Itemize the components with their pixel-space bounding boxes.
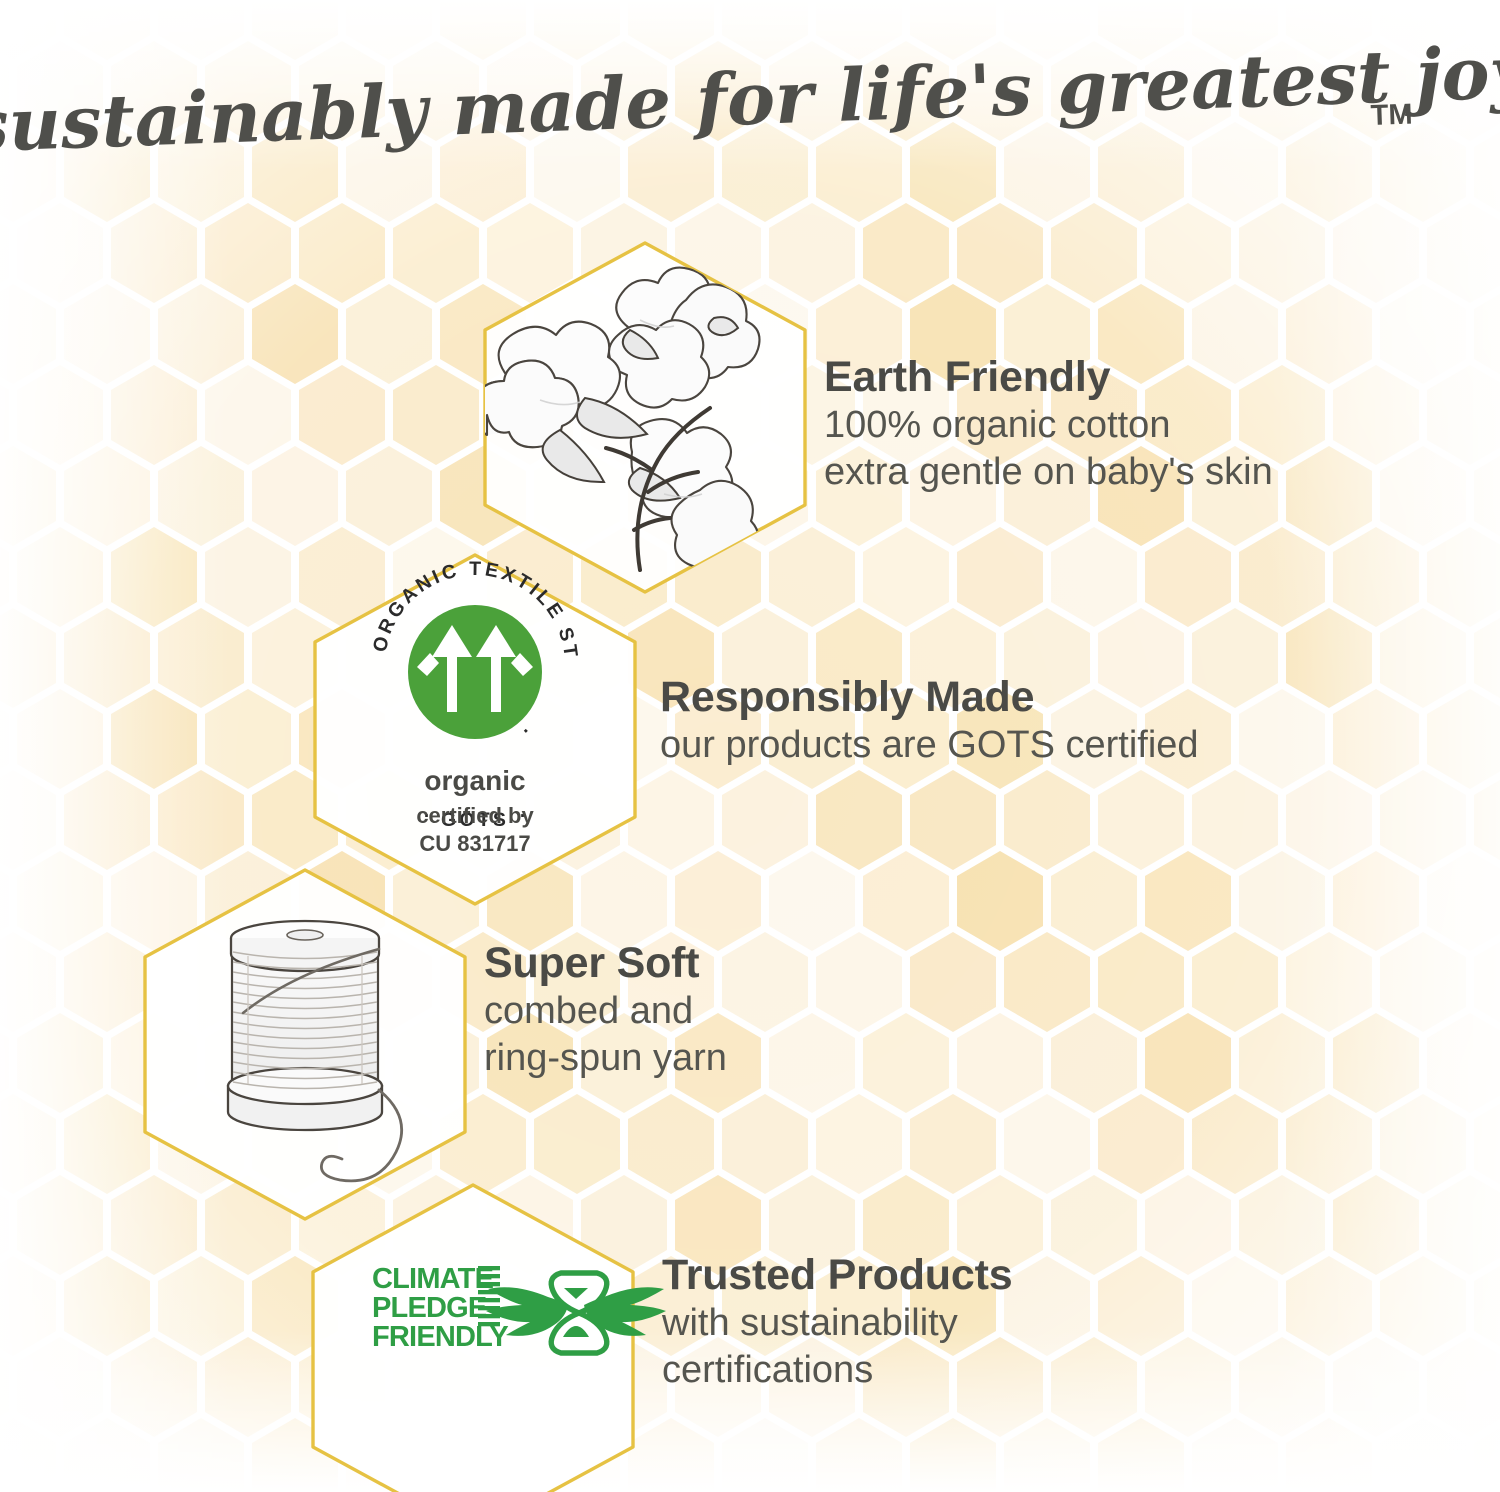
gots-label-certified-by: certified by	[416, 803, 534, 828]
promo-banner: sustainably made for life's greatest joy…	[0, 0, 1500, 1492]
tagline-text: sustainably made for life's greatest joy	[0, 40, 1500, 160]
feature-subline-2: extra gentle on baby's skin	[824, 449, 1273, 496]
feature-card-trusted-products: CLIMATE PLEDGE FRIENDLY	[313, 1185, 666, 1492]
gots-label-organic: organic	[424, 765, 525, 796]
feature-text-trusted-products: Trusted Products with sustainability cer…	[662, 1250, 1012, 1394]
feature-subline-1: 100% organic cotton	[824, 402, 1273, 449]
feature-subline-1: with sustainability	[662, 1300, 1012, 1347]
cpf-line-2: PLEDGE	[372, 1292, 487, 1324]
feature-heading: Responsibly Made	[660, 672, 1199, 722]
feature-heading: Trusted Products	[662, 1250, 1012, 1300]
feature-heading: Earth Friendly	[824, 352, 1273, 402]
tagline-heading: sustainably made for life's greatest joy…	[0, 40, 1500, 160]
feature-card-super-soft	[145, 870, 465, 1219]
feature-text-earth-friendly: Earth Friendly 100% organic cotton extra…	[824, 352, 1273, 496]
cpf-line-1: CLIMATE	[372, 1263, 494, 1295]
feature-subline-2: certifications	[662, 1347, 1012, 1394]
feature-card-earth-friendly	[472, 243, 805, 592]
feature-subline-2: ring-spun yarn	[484, 1035, 727, 1082]
gots-label-cu-number: CU 831717	[419, 831, 530, 856]
feature-subline-1: combed and	[484, 988, 727, 1035]
trademark-symbol: TM	[1370, 99, 1413, 132]
feature-text-responsibly-made: Responsibly Made our products are GOTS c…	[660, 672, 1199, 769]
feature-heading: Super Soft	[484, 938, 727, 988]
feature-text-super-soft: Super Soft combed and ring-spun yarn	[484, 938, 727, 1082]
feature-subline-1: our products are GOTS certified	[660, 722, 1199, 769]
